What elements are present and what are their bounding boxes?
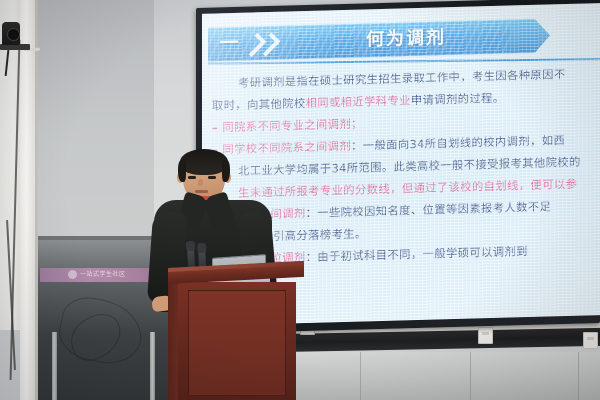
corridor-banner-text: 一站式学生社区 xyxy=(80,269,126,278)
eye-left xyxy=(188,176,196,179)
hair-side-left xyxy=(178,160,186,182)
podium-front-panel xyxy=(188,290,286,396)
slide-text-segment: 同院系不同专业之间调剂； xyxy=(222,117,362,134)
wall-pillar xyxy=(20,0,36,400)
hair-side-right xyxy=(222,160,230,182)
glass-post-right xyxy=(150,332,155,400)
microphone-head-2 xyxy=(197,243,206,253)
slide-text-segment: – xyxy=(212,121,222,134)
wall-camera-icon xyxy=(2,22,20,45)
slide-title: 何为调剂 xyxy=(316,23,496,56)
glass-post-left xyxy=(52,332,57,400)
podium xyxy=(168,268,304,400)
eye-right xyxy=(208,176,216,179)
slide-text-segment: ：由于初试科目不同，一般学硕可以调剂到 xyxy=(306,245,528,264)
slide-title-banner: 一 何为调剂 xyxy=(208,19,546,62)
presenter-hair xyxy=(180,149,228,175)
slide-text-segment: ：一些院校因知名度、位置等因素报考人数不足 xyxy=(306,200,552,220)
podium-body xyxy=(178,282,296,400)
slide-text-segment: 申请调剂的过程。 xyxy=(411,92,505,108)
microphone-head-1 xyxy=(186,241,196,251)
slide-text-segment: 相同或相近学科专业 xyxy=(306,94,411,110)
slide-text-segment: 取时，向其他院校 xyxy=(212,97,306,113)
camera-lens-icon xyxy=(7,28,20,41)
lecture-hall-scene: 一站式学生社区 一 何为调剂 考研调剂是指在硕士研究生招生录取工作中，考生因各种… xyxy=(0,0,600,400)
presenter-nose xyxy=(198,179,203,186)
slide-text-segment: ：一般面向34所自划线的校内调剂，如西 xyxy=(351,134,565,153)
presenter-mouth xyxy=(195,190,208,193)
floor-tile-seam-2 xyxy=(360,352,361,400)
wall-outlet-3[interactable] xyxy=(583,332,598,349)
banner-arrow-tip xyxy=(510,18,550,53)
floor-tile-seam-3 xyxy=(470,352,471,400)
banner-emblem-icon xyxy=(68,270,77,279)
section-number: 一 xyxy=(216,30,242,59)
floor-tile-seam-4 xyxy=(578,352,579,400)
